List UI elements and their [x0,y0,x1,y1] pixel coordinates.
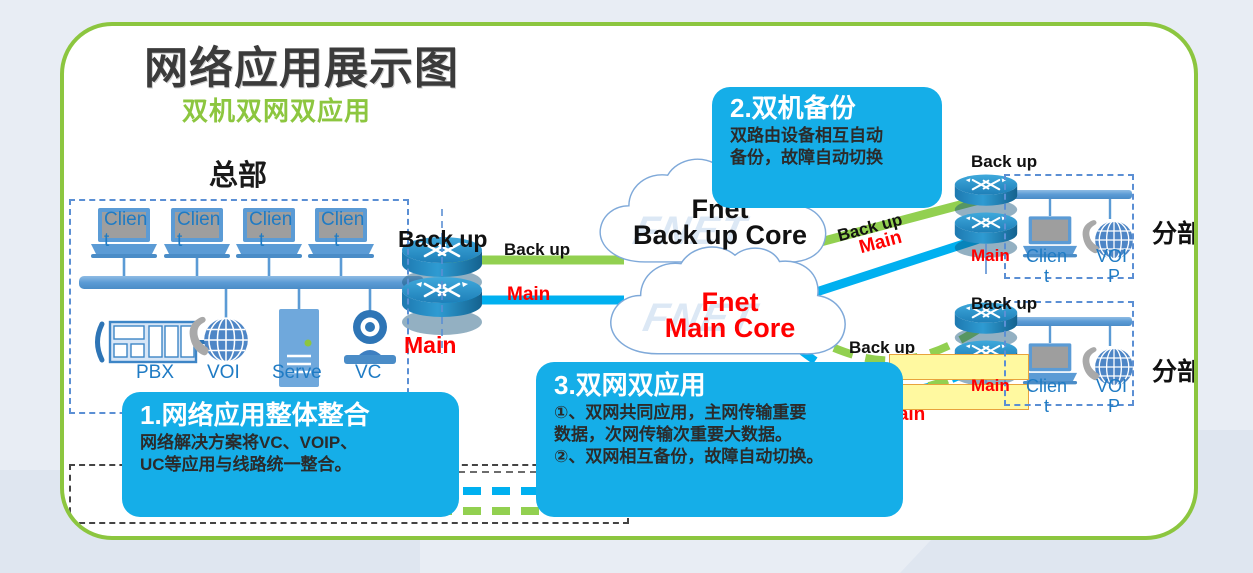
diagram-card: FNET FNET 网络应用展示图 双机双网双应用 总部 Clien t Cli… [60,22,1198,540]
callout-2-body-line-2: 备份，故障自动切换 [730,147,928,169]
hq-client-label-3b: t [259,230,264,252]
callout-3-body-line-1: ①、双网共同应用，主网传输重要 [554,402,889,424]
callout-1-title: 1.网络应用整体整合 [140,400,445,432]
hq-device-label-pbx: PBX [136,362,174,384]
branch3-device-label-client: Clien [1026,376,1067,397]
branch1-device-label-voip: VOI [1096,246,1127,267]
hq-device-label-voi: VOI [207,362,240,384]
callout-2-body-line-1: 双路由设备相互自动 [730,125,928,147]
diagram-stage: FNET FNET 网络应用展示图 双机双网双应用 总部 Clien t Cli… [60,22,1198,540]
page-title: 网络应用展示图 [144,32,459,96]
branch3-device-label-voip: VOI [1096,376,1127,397]
branch1-device-label-client: Clien [1026,246,1067,267]
branch1-device-label-client-b: t [1044,266,1049,287]
callout-3-body-line-2: 数据，次网传输次重要大数据。 [554,424,889,446]
router-icon-hq-main [402,277,482,335]
branch3-router-main-label: Main [971,376,1010,396]
callout-1-body-line-2: UC等应用与线路统一整合。 [140,454,445,476]
hq-client-label-1b: t [104,230,109,252]
branch3-router-backup-label: Back up [971,294,1037,314]
hq-client-label-2: Clien [177,209,220,231]
hq-client-label-3: Clien [249,209,292,231]
page-subtitle: 双机双网双应用 [182,91,371,128]
link-hq-main-label: Main [507,284,550,306]
branch1-device-label-voip-b: P [1108,266,1120,287]
branch3-title: 分部3 [1152,352,1198,388]
hq-client-label-2b: t [177,230,182,252]
hq-device-label-serve: Serve [272,362,322,384]
hq-device-label-vc: VC [355,362,381,384]
callout-1-body-line-1: 网络解决方案将VC、VOIP、 [140,432,445,454]
callout-3[interactable]: 3.双网双应用 ①、双网共同应用，主网传输重要 数据，次网传输次重要大数据。 ②… [536,362,903,517]
hq-router-main-label: Main [404,332,456,359]
callout-3-body-line-3: ②、双网相互备份，故障自动切换。 [554,446,889,468]
branch3-device-label-client-b: t [1044,396,1049,417]
hq-client-label-4b: t [334,230,339,252]
callout-2[interactable]: 2.双机备份 双路由设备相互自动 备份，故障自动切换 [712,87,942,208]
main-cloud-line2: Main Core [620,315,840,342]
hq-router-backup-label: Back up [398,226,487,253]
headquarters-title: 总部 [209,152,267,194]
branch1-router-backup-label: Back up [971,152,1037,172]
main-cloud-line1: Fnet [620,289,840,316]
callout-2-title: 2.双机备份 [730,93,928,125]
branch1-title: 分部1 [1152,214,1198,250]
hq-client-label-4: Clien [321,209,364,231]
branch3-device-label-voip-b: P [1108,396,1120,417]
hq-client-label-1: Clien [104,209,147,231]
branch1-router-main-label: Main [971,246,1010,266]
link-hq-backup-label: Back up [504,240,570,260]
callout-3-title: 3.双网双应用 [554,370,889,402]
backup-cloud-line2: Back up Core [610,222,830,249]
callout-1[interactable]: 1.网络应用整体整合 网络解决方案将VC、VOIP、 UC等应用与线路统一整合。 [122,392,459,517]
